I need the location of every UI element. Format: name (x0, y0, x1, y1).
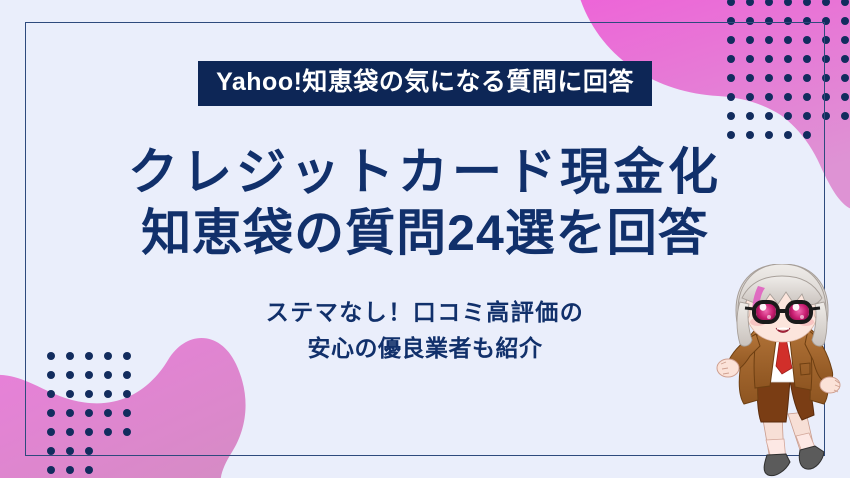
headline-line-2: 知恵袋の質問24選を回答 (128, 203, 722, 264)
subtitle-line-2: 安心の優良業者も紹介 (266, 330, 585, 366)
page-title: クレジットカード現金化 知恵袋の質問24選を回答 (128, 142, 722, 264)
subtitle-line-1: ステマなし！口コミ高評価の (266, 294, 585, 330)
right-hand (820, 377, 840, 393)
subtitle: ステマなし！口コミ高評価の 安心の優良業者も紹介 (266, 294, 585, 367)
banner-canvas: Yahoo!知恵袋の気になる質問に回答 クレジットカード現金化 知恵袋の質問24… (0, 0, 850, 478)
chibi-mascot-character (714, 264, 850, 478)
badge-label: Yahoo!知恵袋の気になる質問に回答 (198, 61, 652, 106)
head (736, 264, 828, 346)
headline-line-1: クレジットカード現金化 (128, 142, 722, 203)
